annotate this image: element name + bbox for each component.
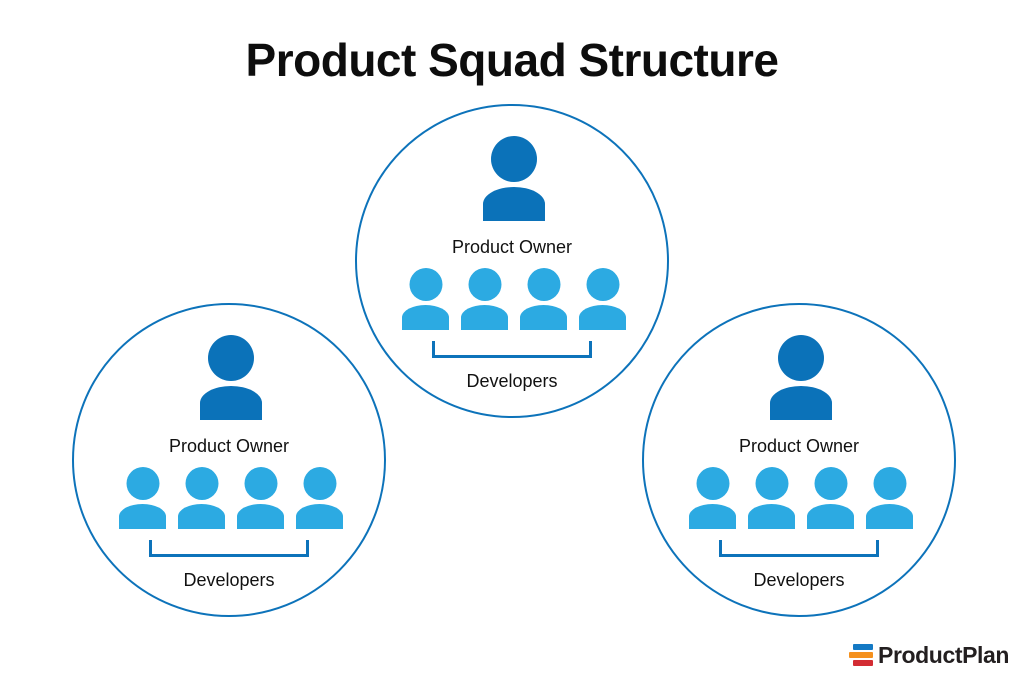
developers-row [119,467,343,529]
person-body-shape [119,504,166,529]
developer-person-icon [866,467,913,529]
person-head-shape [586,268,619,301]
developer-person-icon [178,467,225,529]
person-body-shape [296,504,343,529]
productplan-bars-icon [849,644,873,667]
logo-bar-blue [853,644,873,650]
developer-person-icon [461,268,508,330]
person-body-shape [200,386,262,420]
product-owner-label: Product Owner [74,436,384,457]
person-head-shape [409,268,442,301]
page-title: Product Squad Structure [0,33,1024,87]
developers-label: Developers [74,570,384,591]
product-owner-label: Product Owner [357,237,667,258]
squad-top: Product Owner [355,104,669,418]
developer-person-icon [807,467,854,529]
person-body-shape [866,504,913,529]
developers-label: Developers [357,371,667,392]
person-head-shape [126,467,159,500]
product-owner-person-icon [770,335,832,420]
person-head-shape [244,467,277,500]
squad-top-content: Product Owner [357,106,667,416]
product-owner-label: Product Owner [644,436,954,457]
product-owner-person-icon [200,335,262,420]
person-head-shape [814,467,847,500]
developer-person-icon [296,467,343,529]
person-head-shape [696,467,729,500]
person-body-shape [748,504,795,529]
person-body-shape [237,504,284,529]
productplan-logo-text: ProductPlan [878,644,1009,667]
person-body-shape [579,305,626,330]
developers-label: Developers [644,570,954,591]
person-body-shape [483,187,545,221]
developer-person-icon [579,268,626,330]
person-body-shape [689,504,736,529]
person-body-shape [520,305,567,330]
person-body-shape [178,504,225,529]
person-head-shape [778,335,824,381]
person-head-shape [303,467,336,500]
person-head-shape [873,467,906,500]
logo-bar-red [853,660,873,666]
person-head-shape [527,268,560,301]
logo-bar-orange [849,652,873,658]
person-body-shape [807,504,854,529]
squad-left: Product Owner [72,303,386,617]
squad-left-content: Product Owner [74,305,384,615]
diagram-canvas: Product Squad Structure Product Owner [0,0,1024,683]
developers-row [689,467,913,529]
person-head-shape [185,467,218,500]
person-head-shape [208,335,254,381]
product-owner-person-icon [483,136,545,221]
developer-person-icon [748,467,795,529]
developer-person-icon [402,268,449,330]
developers-bracket [432,341,592,358]
developer-person-icon [520,268,567,330]
developers-bracket [149,540,309,557]
squad-right-content: Product Owner [644,305,954,615]
developers-row [402,268,626,330]
person-body-shape [461,305,508,330]
person-head-shape [755,467,788,500]
person-head-shape [491,136,537,182]
person-body-shape [770,386,832,420]
developers-bracket [719,540,879,557]
developer-person-icon [119,467,166,529]
developer-person-icon [237,467,284,529]
productplan-logo: ProductPlan [849,644,1009,667]
developer-person-icon [689,467,736,529]
person-head-shape [468,268,501,301]
person-body-shape [402,305,449,330]
squad-right: Product Owner [642,303,956,617]
